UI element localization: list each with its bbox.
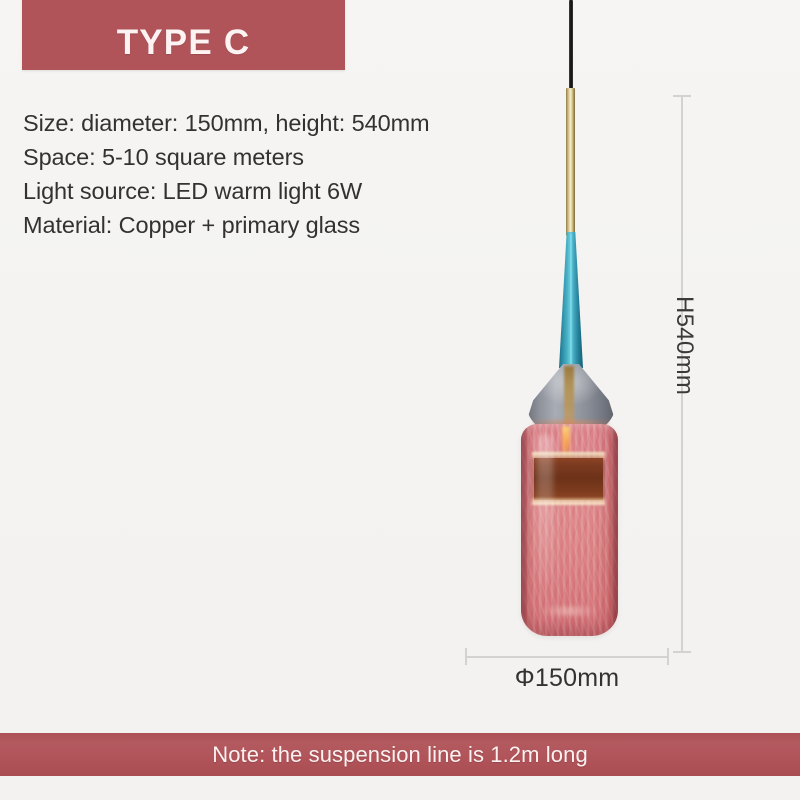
glass-left-edge	[521, 424, 530, 636]
smoke-glass-base-glow	[533, 420, 609, 434]
spec-line-material: Material: Copper + primary glass	[23, 208, 543, 242]
type-badge: TYPE C	[22, 0, 345, 70]
led-filament	[562, 426, 570, 460]
teal-stem-highlight	[570, 234, 572, 366]
led-top-glow	[532, 452, 605, 459]
glass-bottom-sheen	[539, 606, 599, 616]
diameter-dimension-tick-right	[667, 648, 669, 665]
teal-glass-stem	[559, 232, 583, 368]
note-banner: Note: the suspension line is 1.2m long	[0, 733, 800, 776]
smoke-glass-cone	[527, 364, 615, 434]
note-banner-text: Note: the suspension line is 1.2m long	[212, 742, 588, 768]
glass-right-edge	[609, 424, 618, 636]
brass-rod	[566, 88, 575, 236]
led-module	[534, 458, 603, 500]
type-badge-label: TYPE C	[117, 25, 251, 60]
spec-line-light-source: Light source: LED warm light 6W	[23, 174, 543, 208]
suspension-cord	[569, 0, 573, 90]
spec-line-size: Size: diameter: 150mm, height: 540mm	[23, 106, 543, 140]
smoke-glass-core	[564, 366, 574, 432]
glass-rib-pattern	[521, 424, 618, 636]
product-spec-page: TYPE C Size: diameter: 150mm, height: 54…	[0, 0, 800, 800]
glass-highlight	[537, 434, 553, 584]
specification-list: Size: diameter: 150mm, height: 540mm Spa…	[23, 106, 543, 242]
height-dimension-tick-bottom	[673, 651, 691, 653]
spec-line-space: Space: 5-10 square meters	[23, 140, 543, 174]
led-bottom-glow	[532, 498, 605, 505]
pink-glass-shade	[521, 424, 618, 636]
diameter-dimension-line	[466, 656, 668, 658]
diameter-dimension-label: Φ150mm	[466, 664, 668, 693]
height-dimension-label: H540mm	[670, 296, 698, 395]
glass-texture-pattern	[521, 424, 618, 636]
